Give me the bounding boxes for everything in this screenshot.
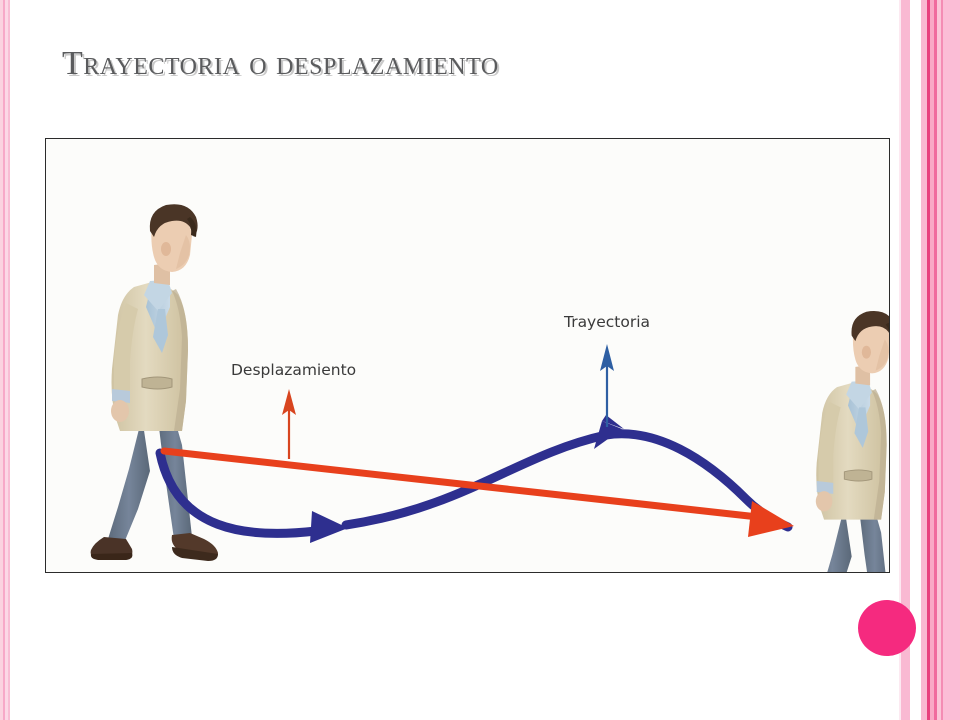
label-trayectoria: Trayectoria	[564, 313, 650, 331]
trajectory-curve	[160, 415, 788, 543]
label-desplazamiento: Desplazamiento	[231, 361, 356, 379]
left-pink-stripe	[0, 0, 11, 720]
desplazamiento-pointer-arrow	[282, 389, 296, 459]
trayectoria-pointer-arrow	[600, 344, 614, 427]
slide-canvas: Trayectoria o desplazamiento	[0, 0, 960, 720]
pink-circle-decoration	[858, 600, 916, 656]
walker-right-illustration	[797, 311, 890, 573]
diagram-graphics	[46, 139, 890, 573]
physics-diagram: Desplazamiento Trayectoria	[45, 138, 890, 573]
walker-left-illustration	[91, 204, 218, 561]
page-title: Trayectoria o desplazamiento	[62, 45, 499, 83]
